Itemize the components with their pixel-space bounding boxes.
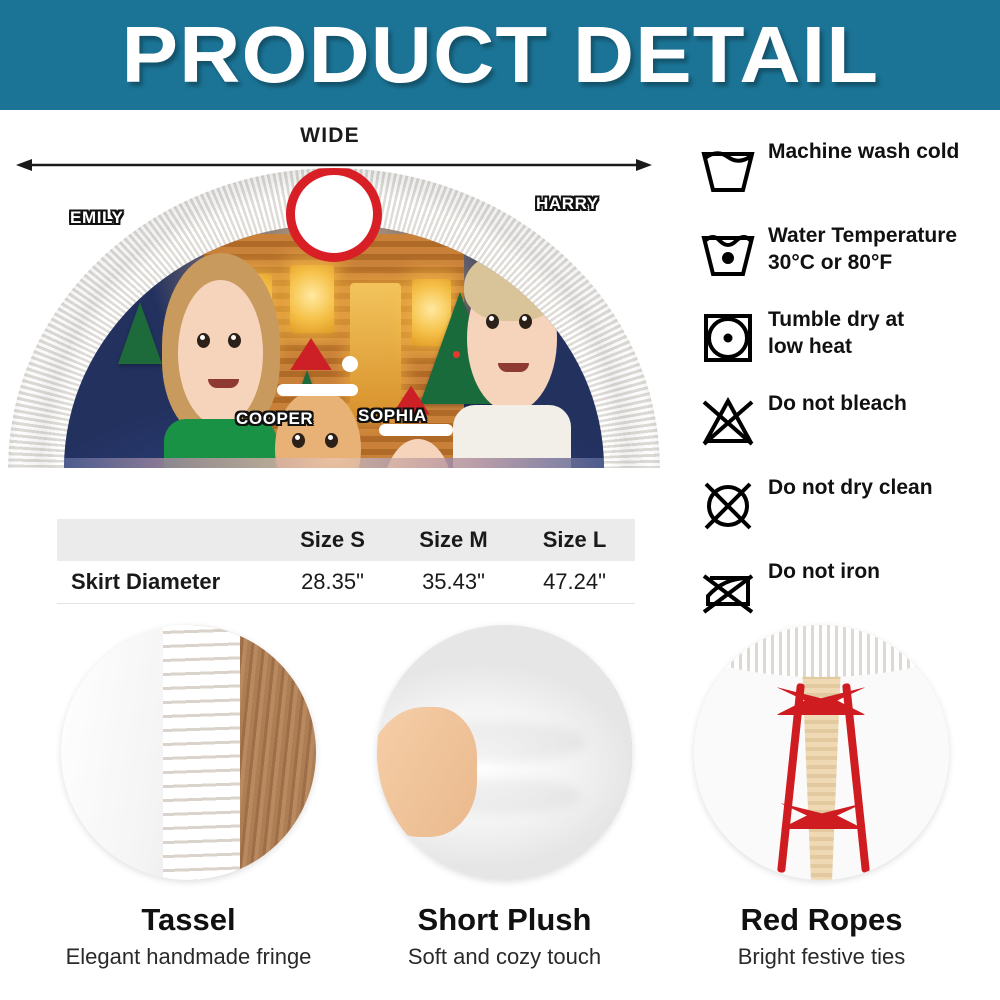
size-table-head: Size S Size M Size L — [57, 519, 635, 561]
name-label-harry: HARRY — [536, 194, 599, 214]
size-value-m: 35.43" — [393, 561, 514, 603]
size-table-col-blank — [57, 519, 272, 561]
size-table-col-m: Size M — [393, 519, 514, 561]
feature-title-red-ropes: Red Ropes — [655, 902, 988, 938]
size-table-col-l: Size L — [514, 519, 635, 561]
tumble-dry-icon — [698, 310, 758, 368]
hand-pressing — [377, 707, 477, 837]
care-row-machine-wash: Machine wash cold — [690, 138, 990, 222]
care-label-water-temp: Water Temperature 30°C or 80°F — [768, 222, 988, 276]
care-label-water-temp-line2: 30°C or 80°F — [768, 249, 988, 276]
table-row: Skirt Diameter 28.35" 35.43" 47.24" — [57, 561, 635, 603]
size-value-s: 28.35" — [272, 561, 393, 603]
feature-subtitle-red-ropes: Bright festive ties — [655, 944, 988, 970]
size-row-label-skirt-diameter: Skirt Diameter — [57, 561, 272, 603]
page-title: PRODUCT DETAIL — [121, 15, 879, 95]
feature-plush-photo — [377, 625, 632, 880]
feature-highlights: Tassel Elegant handmade fringe Short Plu… — [0, 625, 1000, 1000]
name-label-emily: EMILY — [70, 208, 123, 228]
size-table-col-s: Size S — [272, 519, 393, 561]
care-label-machine-wash: Machine wash cold — [768, 138, 988, 165]
care-row-water-temp: Water Temperature 30°C or 80°F — [690, 222, 990, 306]
care-label-tumble-dry-line1: Tumble dry at — [768, 306, 988, 333]
tassel-fringe-detail — [163, 625, 240, 880]
care-label-water-temp-line1: Water Temperature — [768, 222, 988, 249]
name-label-sophia: SOPHIA — [358, 406, 427, 426]
care-label-no-dry-clean: Do not dry clean — [768, 474, 988, 501]
no-dry-clean-icon — [698, 478, 758, 536]
care-row-no-bleach: Do not bleach — [690, 390, 990, 474]
no-iron-icon — [698, 562, 758, 620]
care-row-no-dry-clean: Do not dry clean — [690, 474, 990, 558]
header-banner: PRODUCT DETAIL — [0, 0, 1000, 110]
feature-tassel-photo — [61, 625, 316, 880]
feature-ropes-photo — [694, 625, 949, 880]
care-label-tumble-dry: Tumble dry at low heat — [768, 306, 988, 360]
care-label-tumble-dry-line2: low heat — [768, 333, 988, 360]
size-table-header-row: Size S Size M Size L — [57, 519, 635, 561]
feature-subtitle-tassel: Elegant handmade fringe — [22, 944, 355, 970]
feature-tassel: Tassel Elegant handmade fringe — [22, 625, 355, 970]
center-hole — [286, 168, 382, 262]
feature-title-tassel: Tassel — [22, 902, 355, 938]
feature-red-ropes: Red Ropes Bright festive ties — [655, 625, 988, 970]
machine-wash-icon — [698, 142, 758, 200]
size-table-body: Skirt Diameter 28.35" 35.43" 47.24" — [57, 561, 635, 603]
care-label-no-iron: Do not iron — [768, 558, 988, 585]
size-value-l: 47.24" — [514, 561, 635, 603]
name-label-cooper: COOPER — [236, 409, 313, 429]
feature-title-short-plush: Short Plush — [338, 902, 671, 938]
size-table: Size S Size M Size L Skirt Diameter 28.3… — [57, 519, 635, 604]
character-harry — [442, 244, 582, 468]
care-label-no-bleach: Do not bleach — [768, 390, 988, 417]
no-bleach-icon — [698, 394, 758, 452]
water-temp-icon — [698, 226, 758, 284]
product-image: EMILY HARRY COOPER SOPHIA — [8, 168, 660, 468]
care-instructions-list: Machine wash cold Water Temperature 30°C… — [690, 138, 990, 642]
wide-measure-label: WIDE — [0, 124, 660, 148]
care-row-tumble-dry: Tumble dry at low heat — [690, 306, 990, 390]
feature-subtitle-short-plush: Soft and cozy touch — [338, 944, 671, 970]
feature-short-plush: Short Plush Soft and cozy touch — [338, 625, 671, 970]
